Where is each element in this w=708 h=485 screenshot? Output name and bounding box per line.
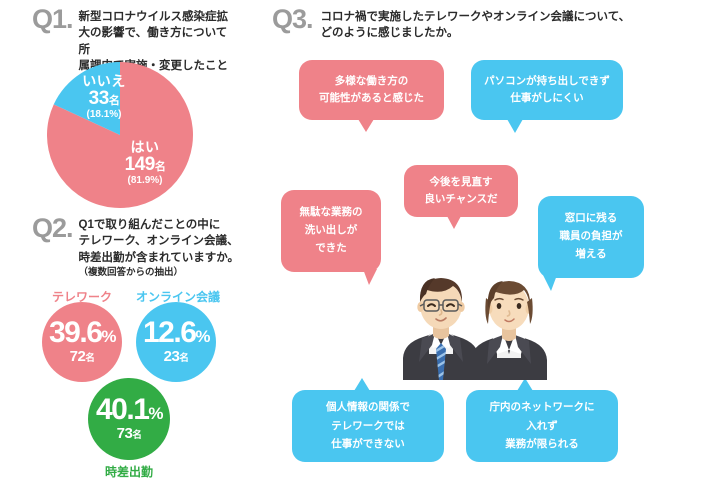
q3-bubble-diverse-work-styles: 多様な働き方の 可能性があると感じた [299,60,444,120]
q3-bubble-personal-info: 個人情報の関係で テレワークでは 仕事ができない [292,390,444,462]
q3-bubble-tail-wasteful-tasks [363,269,377,285]
female-employee-figure [471,281,547,380]
q1-pie-chart: はい 149名 (81.9%) いいえ 33名 (18.1%) [47,62,193,208]
male-employee-figure [403,278,479,380]
q2-pct-telework: 39.6% [49,319,115,348]
q2-count-telework: 72名 [70,349,95,366]
q2-circle-telework: 39.6% 72名 [42,302,122,382]
q3-bubble-tail-diverse-work-styles [358,119,374,132]
q2-number: Q2. [32,215,73,242]
q2-pct-online-meeting: 12.6% [143,319,209,348]
pie-slice-label-yes: はい 149名 (81.9%) [103,140,187,186]
q3-bubble-pc-not-portable: パソコンが持ち出しできず 仕事がしにくい [471,60,623,120]
q3-text: コロナ禍で実施したテレワークやオンライン会議について、 どのように感じましたか。 [321,9,692,42]
q2-circle-online-meeting: 12.6% 23名 [136,302,216,382]
infographic-page: Q1. 新型コロナウイルス感染症拡 大の影響で、働き方について所 属課内で実施・… [0,0,708,485]
q2-count-staggered-hours: 73名 [117,426,142,443]
q3-bubble-wasteful-tasks: 無駄な業務の 洗い出しが できた [281,190,381,272]
q2-text: Q1で取り組んだことの中に テレワーク、オンライン会議、 時差出勤が含まれていま… [79,217,249,266]
pie-slice-label-no: いいえ 33名 (18.1%) [69,74,139,120]
two-business-people-illustration [395,250,555,380]
q2-subtext: （複数回答からの抽出） [79,266,249,279]
q1-number: Q1. [32,6,73,33]
question-3-block: Q3. コロナ禍で実施したテレワークやオンライン会議について、 どのように感じま… [272,6,692,42]
q2-circle-staggered-hours: 40.1% 73名 [88,378,170,460]
q2-pct-staggered-hours: 40.1% [96,396,162,425]
q3-bubble-tail-pc-not-portable [507,119,523,133]
q2-caption-staggered-hours: 時差出勤 [88,463,170,480]
q2-count-online-meeting: 23名 [164,349,189,366]
q3-bubble-internal-network: 庁内のネットワークに 入れず 業務が限られる [466,390,618,462]
q3-number: Q3. [272,6,313,33]
q3-bubble-tail-good-chance-review [447,216,461,229]
question-2-block: Q2. Q1で取り組んだことの中に テレワーク、オンライン会議、 時差出勤が含ま… [32,215,252,279]
q3-bubble-good-chance-review: 今後を見直す 良いチャンスだ [404,165,518,217]
